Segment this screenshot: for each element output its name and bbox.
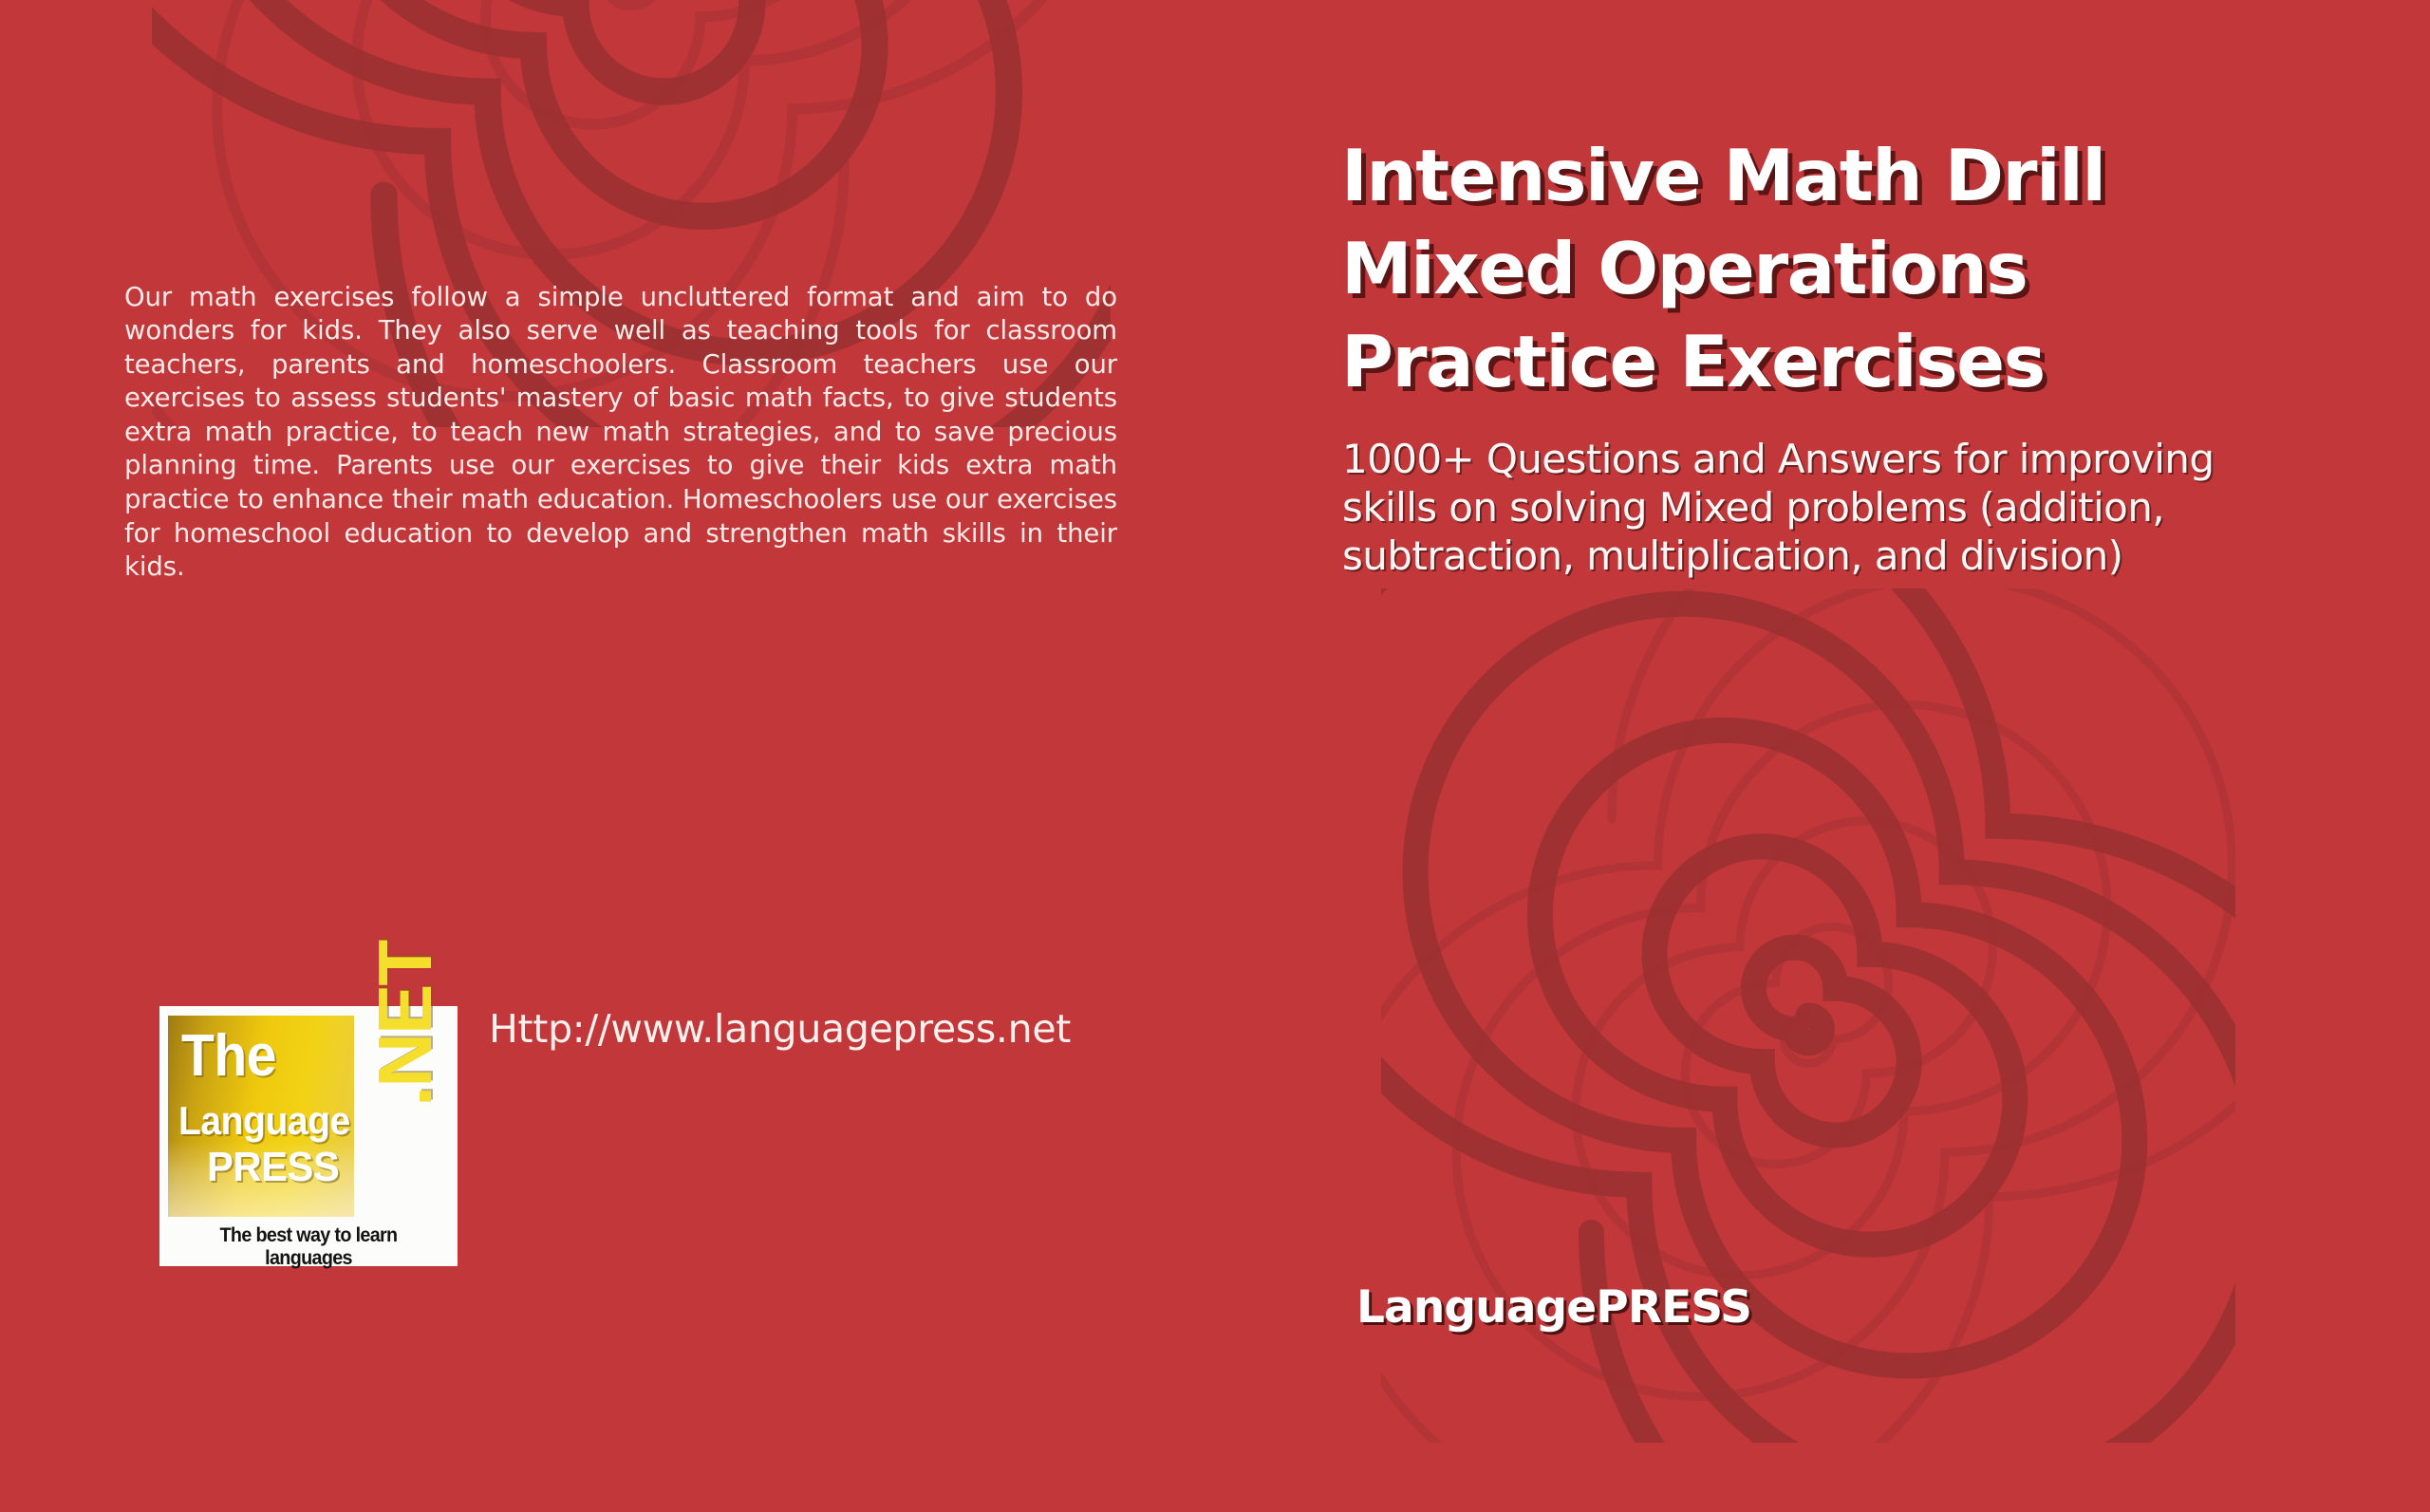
logo-tagline: The best way to learn languages bbox=[175, 1224, 442, 1270]
publisher-name: LanguagePRESS bbox=[1356, 1281, 1751, 1334]
back-cover-blurb: Our math exercises follow a simple unclu… bbox=[124, 281, 1117, 585]
book-title-line-2: Mixed Operations bbox=[1341, 222, 2423, 315]
book-subtitle: 1000+ Questions and Answers for improvin… bbox=[1342, 435, 2424, 580]
book-title-line-1: Intensive Math Drill bbox=[1341, 129, 2423, 222]
front-cover-panel: Intensive Math Drill Mixed Operations Pr… bbox=[1334, 0, 2430, 1512]
publisher-logo-inner: The Language PRESS .NET The best way to … bbox=[166, 1014, 451, 1260]
logo-word-language: Language bbox=[178, 1101, 350, 1141]
logo-word-the: The bbox=[181, 1027, 276, 1086]
website-url[interactable]: Http://www.languagepress.net bbox=[489, 1006, 1071, 1052]
book-subtitle-line-3: subtraction, multiplication, and divisio… bbox=[1342, 532, 2424, 580]
book-title: Intensive Math Drill Mixed Operations Pr… bbox=[1341, 129, 2423, 408]
book-subtitle-line-1: 1000+ Questions and Answers for improvin… bbox=[1342, 435, 2424, 483]
back-cover-panel: Our math exercises follow a simple unclu… bbox=[0, 0, 1334, 1512]
logo-word-net: .NET bbox=[362, 909, 449, 1107]
book-title-line-3: Practice Exercises bbox=[1341, 315, 2423, 408]
book-cover: Our math exercises follow a simple unclu… bbox=[0, 0, 2430, 1512]
book-subtitle-line-2: skills on solving Mixed problems (additi… bbox=[1342, 483, 2424, 532]
publisher-logo: The Language PRESS .NET The best way to … bbox=[159, 1006, 458, 1266]
logo-word-press: PRESS bbox=[207, 1147, 339, 1188]
